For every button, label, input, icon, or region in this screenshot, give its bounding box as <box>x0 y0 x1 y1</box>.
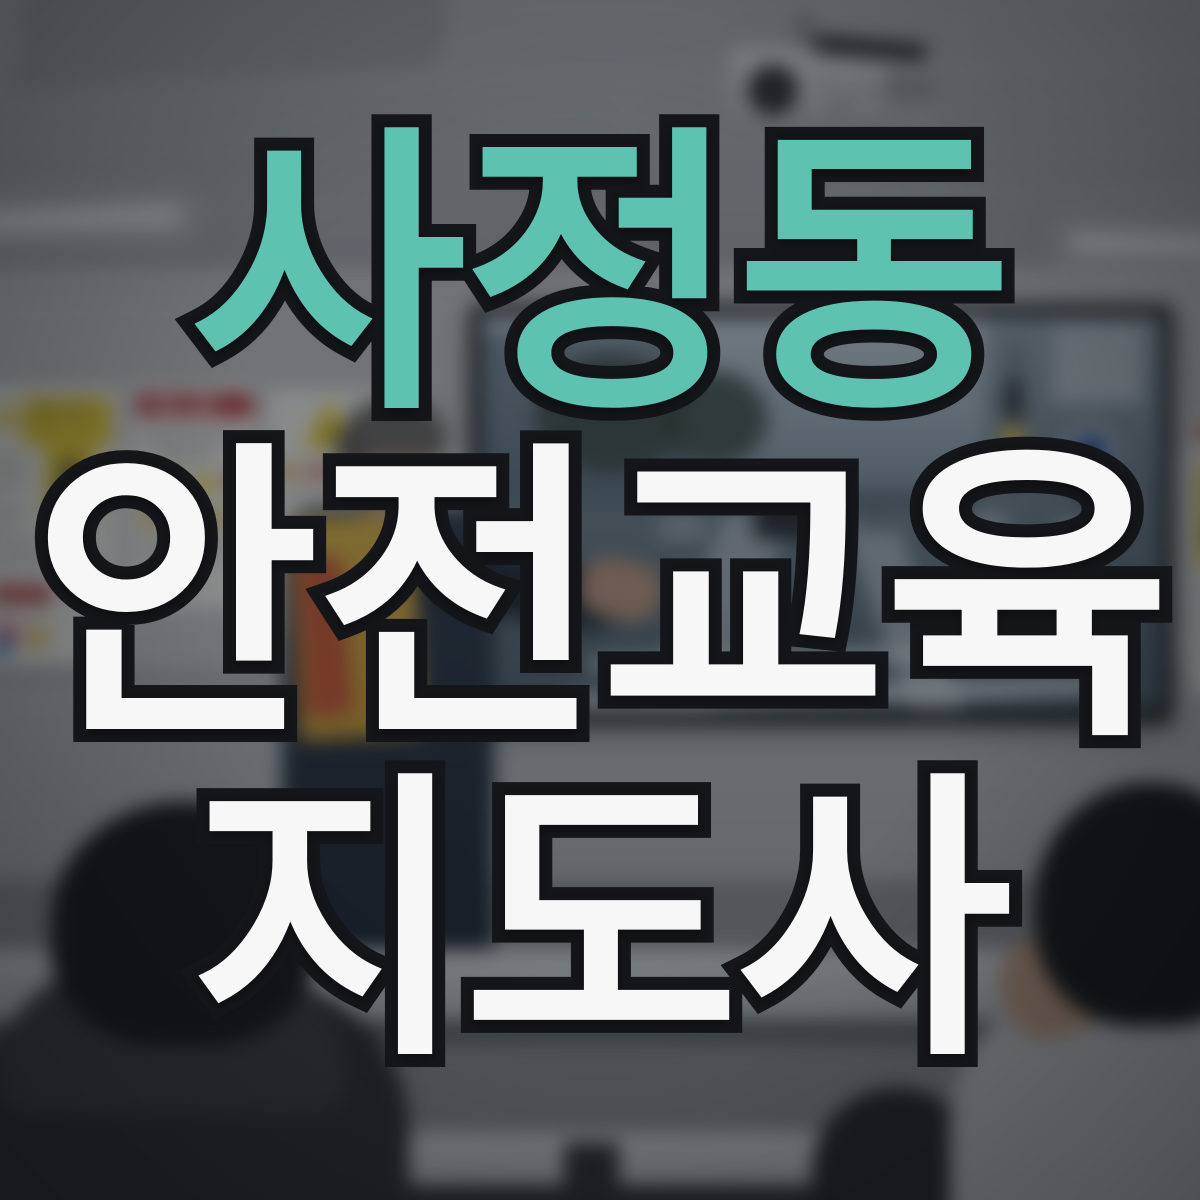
title-line-1: 사정동 <box>191 130 1010 424</box>
title-line-3: 지도사 <box>191 776 1010 1070</box>
title-line-2: 안전교육 <box>32 446 1168 752</box>
title-overlay: 사정동 안전교육 지도사 <box>0 0 1200 1200</box>
poster-thumbnail: ! <box>0 0 1200 1200</box>
